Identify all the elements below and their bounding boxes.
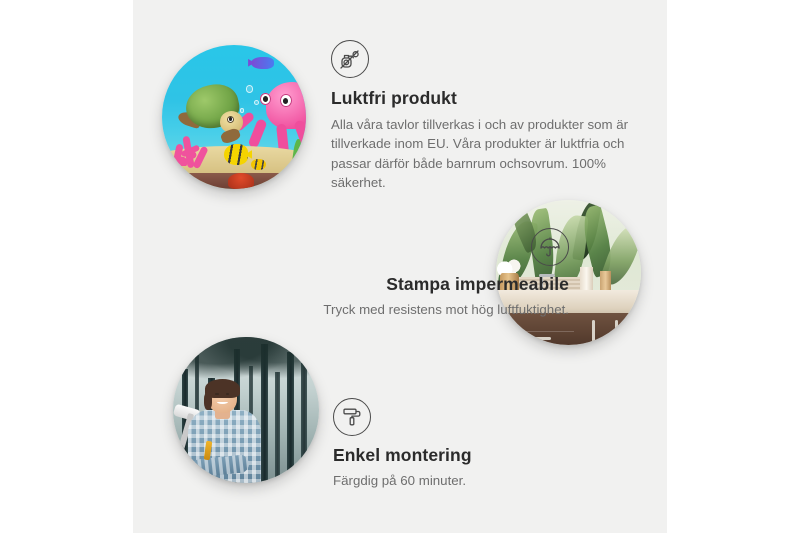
- cabinet-handle: [615, 320, 618, 343]
- yellow-fish-icon: [224, 144, 248, 164]
- feature-description: Alla våra tavlor tillverkas i och av pro…: [331, 115, 629, 192]
- feature-description: Tryck med resistens mot hög luftfuktighe…: [221, 300, 569, 319]
- bubble-icon: [246, 85, 253, 92]
- painter-forest-image[interactable]: [173, 337, 319, 483]
- tree-trunk: [275, 372, 280, 483]
- small-fish-icon: [251, 159, 265, 171]
- octopus-eye: [280, 94, 292, 107]
- feature-icon-wrap: [221, 228, 569, 274]
- feature-panel: Luktfri produkt Alla våra tavlor tillver…: [133, 0, 667, 533]
- feature-icon-wrap: [333, 398, 633, 436]
- bubble-icon: [254, 100, 259, 105]
- toiletry-bottle: [580, 267, 593, 292]
- blue-fish-icon: [251, 57, 274, 70]
- feature-waterproof: Stampa impermeabile Tryck med resistens …: [221, 228, 569, 319]
- no-fragrance-icon: [331, 40, 369, 78]
- feature-odourless: Luktfri produkt Alla våra tavlor tillver…: [331, 40, 629, 192]
- person-hair: [204, 392, 213, 410]
- crab-icon: [228, 173, 254, 189]
- feature-title: Luktfri produkt: [331, 88, 629, 109]
- underwater-artwork: [162, 45, 306, 189]
- feature-mounting: Enkel montering Färgdig på 60 minuter.: [333, 398, 633, 490]
- feature-title: Enkel montering: [333, 445, 633, 466]
- forest-canopy: [173, 337, 319, 387]
- turtle-eye: [227, 116, 234, 123]
- drawer-seam: [508, 331, 575, 332]
- umbrella-icon: [531, 228, 569, 266]
- feature-description: Färgdig på 60 minuter.: [333, 471, 633, 490]
- cabinet-handle: [592, 320, 595, 343]
- underwater-cartoon-image[interactable]: [162, 45, 306, 189]
- feature-title: Stampa impermeabile: [221, 274, 569, 295]
- paint-roller-icon: [333, 398, 371, 436]
- drawer-handle: [516, 337, 551, 340]
- screenshot-root: Luktfri produkt Alla våra tavlor tillver…: [0, 0, 800, 533]
- painter-artwork: [173, 337, 319, 483]
- bubble-icon: [240, 108, 244, 112]
- toiletry-bottle: [600, 271, 610, 291]
- feature-icon-wrap: [331, 40, 629, 78]
